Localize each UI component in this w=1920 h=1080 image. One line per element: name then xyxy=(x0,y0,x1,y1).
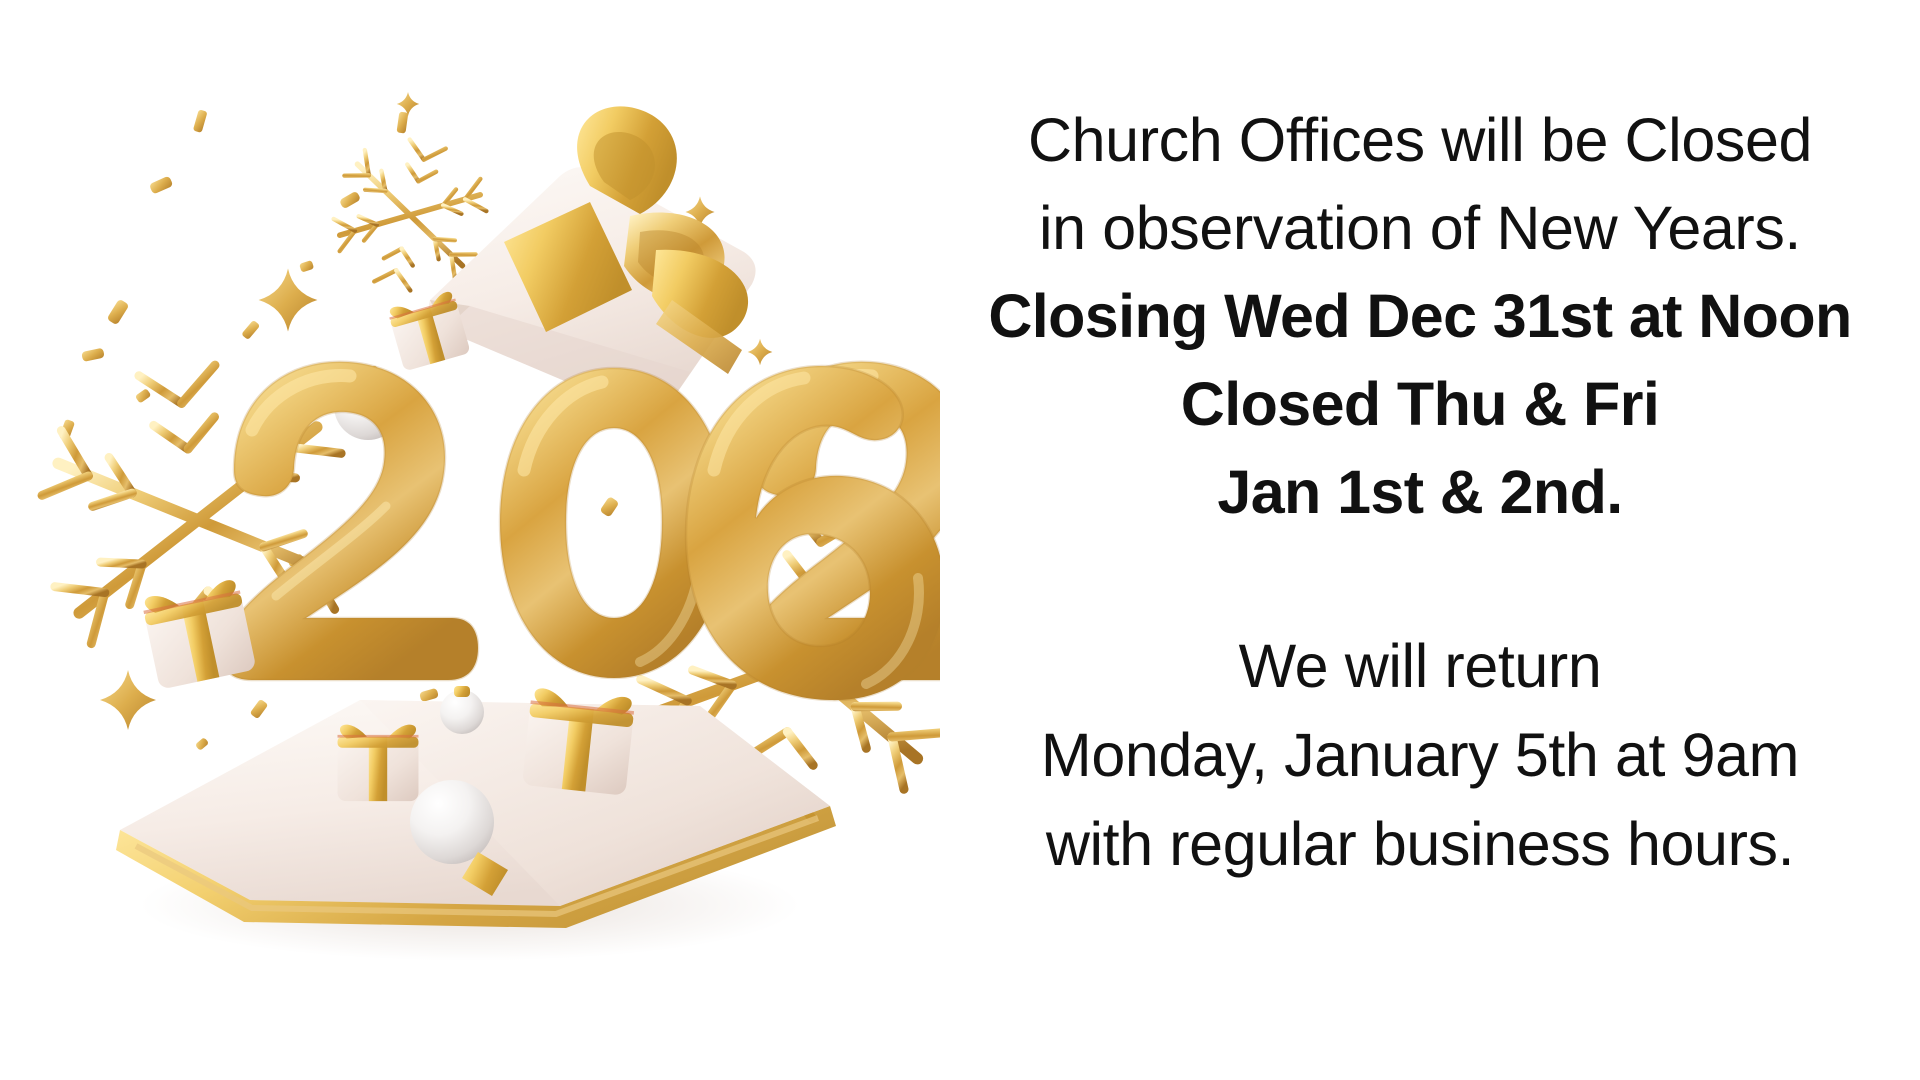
return-line-1: We will return xyxy=(960,622,1880,711)
closure-message-block: Church Offices will be Closed in observa… xyxy=(940,0,1920,1080)
intro-line-2: in observation of New Years. xyxy=(960,184,1880,272)
closure-line-3: Jan 1st & 2nd. xyxy=(960,448,1880,536)
closure-line-2: Closed Thu & Fri xyxy=(960,360,1880,448)
closure-line-1: Closing Wed Dec 31st at Noon xyxy=(960,272,1880,360)
intro-line-1: Church Offices will be Closed xyxy=(960,96,1880,184)
new-year-2026-illustration xyxy=(0,0,940,1080)
white-gold-gift-box-bottom-right xyxy=(522,687,636,795)
closure-notice-poster: Church Offices will be Closed in observa… xyxy=(0,0,1920,1080)
balloon-digit-6 xyxy=(686,366,940,700)
paragraph-spacer xyxy=(960,536,1880,622)
return-line-2: Monday, January 5th at 9am xyxy=(960,711,1880,800)
return-line-3: with regular business hours. xyxy=(960,800,1880,889)
white-christmas-ornament-ball-bottom xyxy=(440,686,484,734)
new-year-artwork xyxy=(0,0,940,1080)
balloon-digit-2-first xyxy=(222,362,478,680)
white-gold-gift-box-bottom-center xyxy=(338,725,419,801)
white-gold-gift-box-top xyxy=(429,106,756,413)
